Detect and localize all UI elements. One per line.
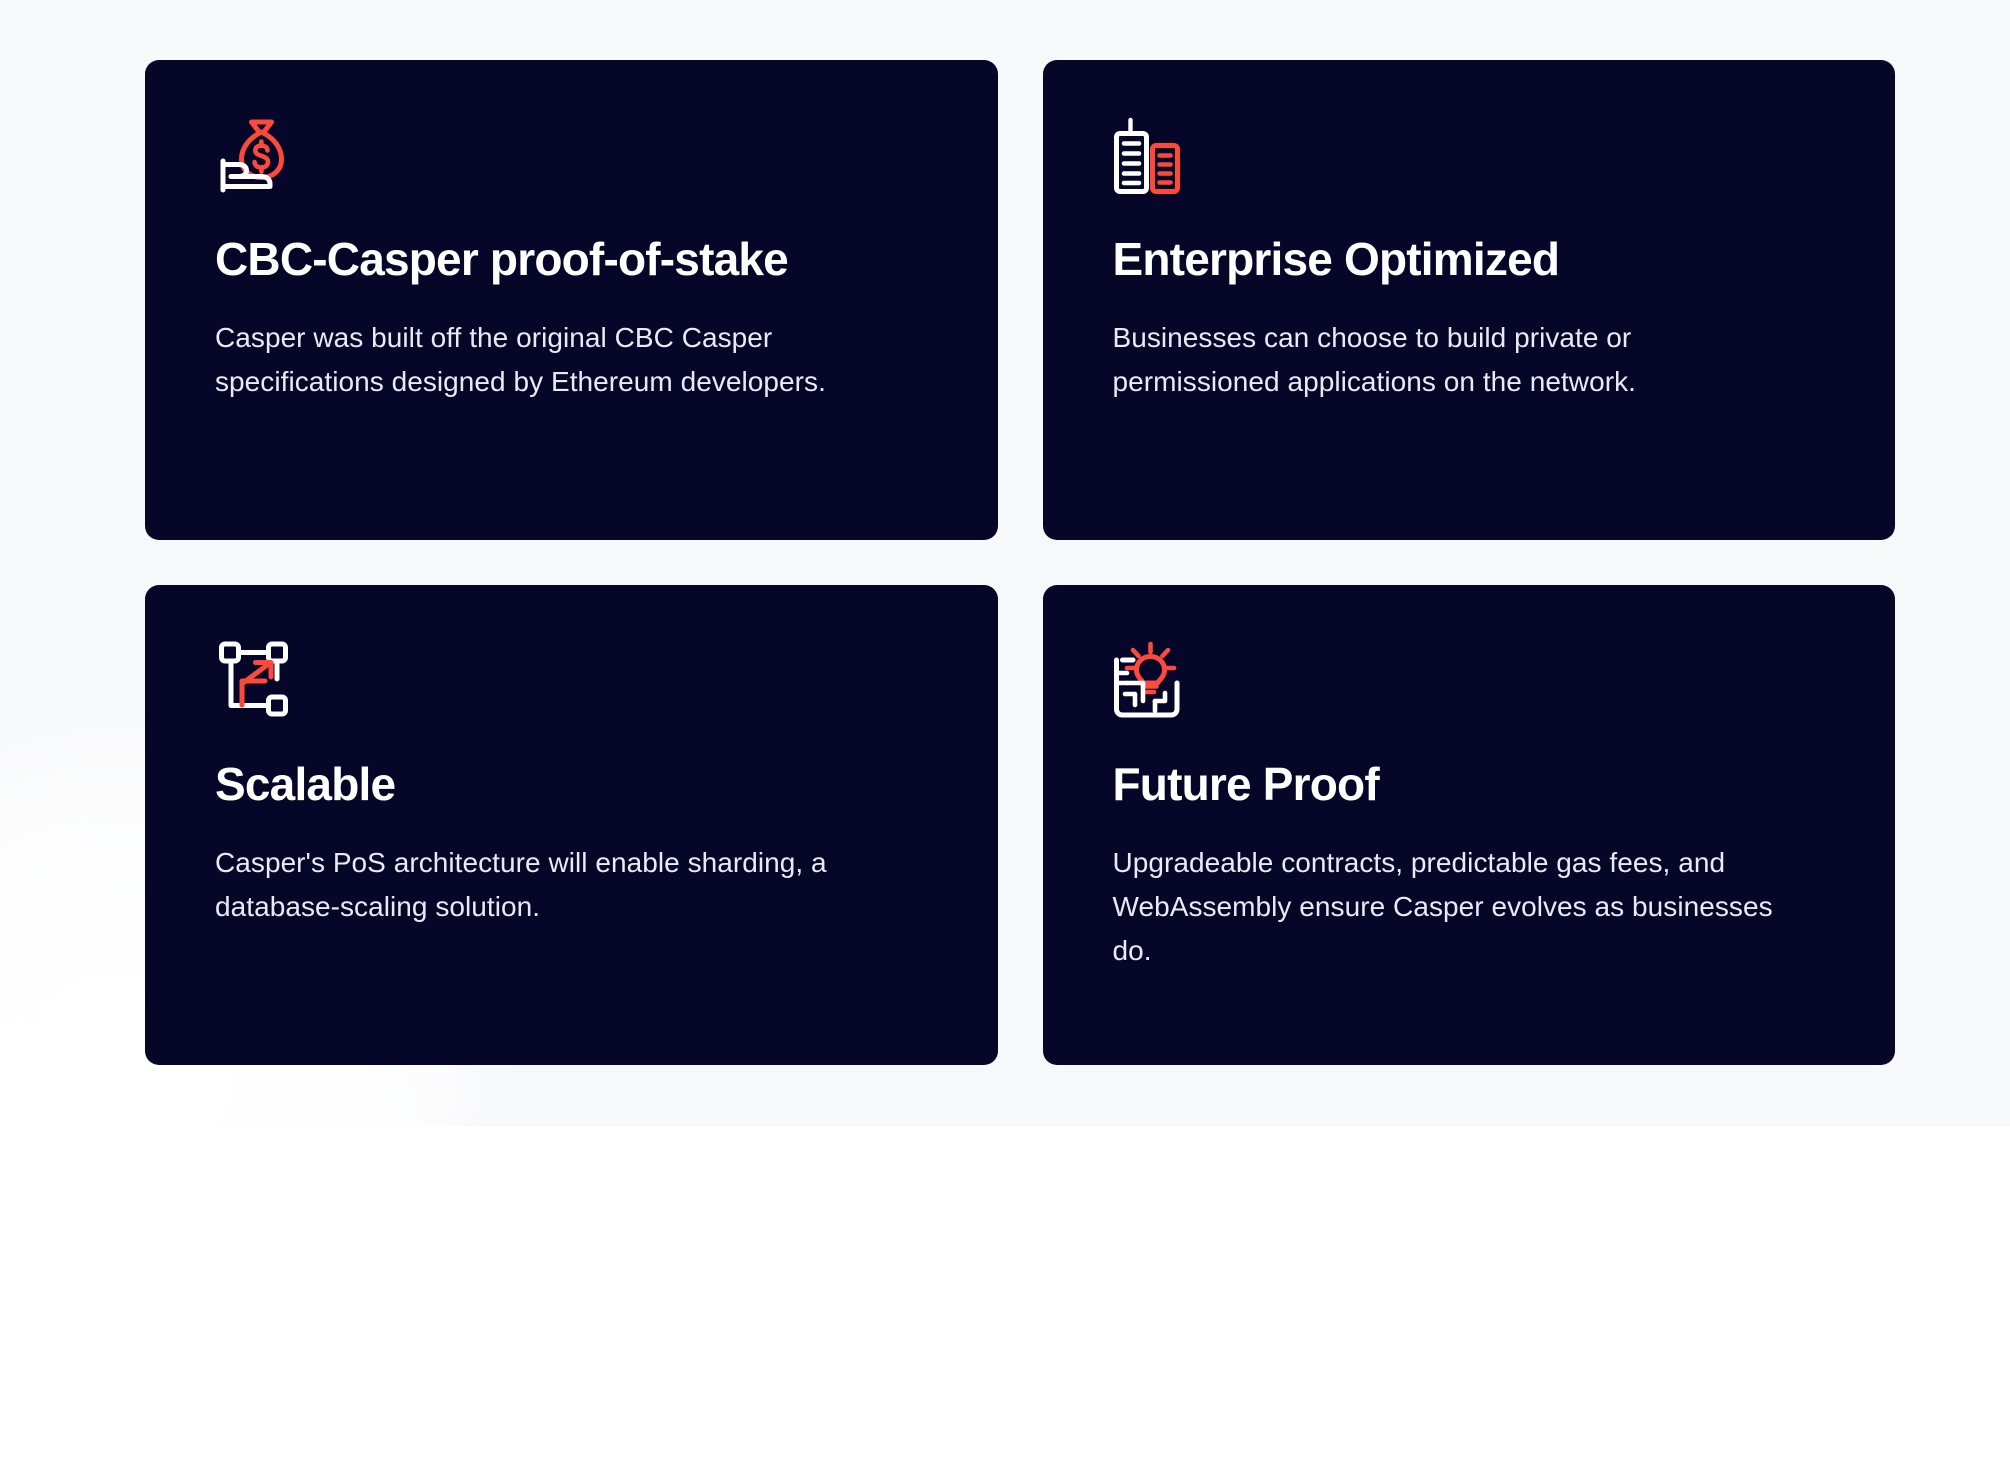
card-title: Future Proof bbox=[1113, 759, 1826, 811]
feature-card-cbc-casper-proof-of-stake[interactable]: CBC-Casper proof-of-stake Casper was bui… bbox=[145, 60, 998, 540]
card-title: Scalable bbox=[215, 759, 928, 811]
feature-card-future-proof[interactable]: Future Proof Upgradeable contracts, pred… bbox=[1043, 585, 1896, 1065]
card-description: Casper's PoS architecture will enable sh… bbox=[215, 841, 875, 929]
feature-card-enterprise-optimized[interactable]: Enterprise Optimized Businesses can choo… bbox=[1043, 60, 1896, 540]
scale-resize-arrow-icon bbox=[215, 639, 307, 723]
card-description: Casper was built off the original CBC Ca… bbox=[215, 316, 875, 404]
feature-card-grid: CBC-Casper proof-of-stake Casper was bui… bbox=[145, 60, 1895, 1065]
card-description: Upgradeable contracts, predictable gas f… bbox=[1113, 841, 1803, 974]
feature-card-scalable[interactable]: Scalable Casper's PoS architecture will … bbox=[145, 585, 998, 1065]
office-buildings-icon bbox=[1113, 114, 1205, 198]
card-title: Enterprise Optimized bbox=[1113, 234, 1826, 286]
card-title: CBC-Casper proof-of-stake bbox=[215, 234, 928, 286]
lightbulb-circuit-icon bbox=[1113, 639, 1205, 723]
card-description: Businesses can choose to build private o… bbox=[1113, 316, 1803, 404]
money-bag-icon bbox=[215, 114, 307, 198]
